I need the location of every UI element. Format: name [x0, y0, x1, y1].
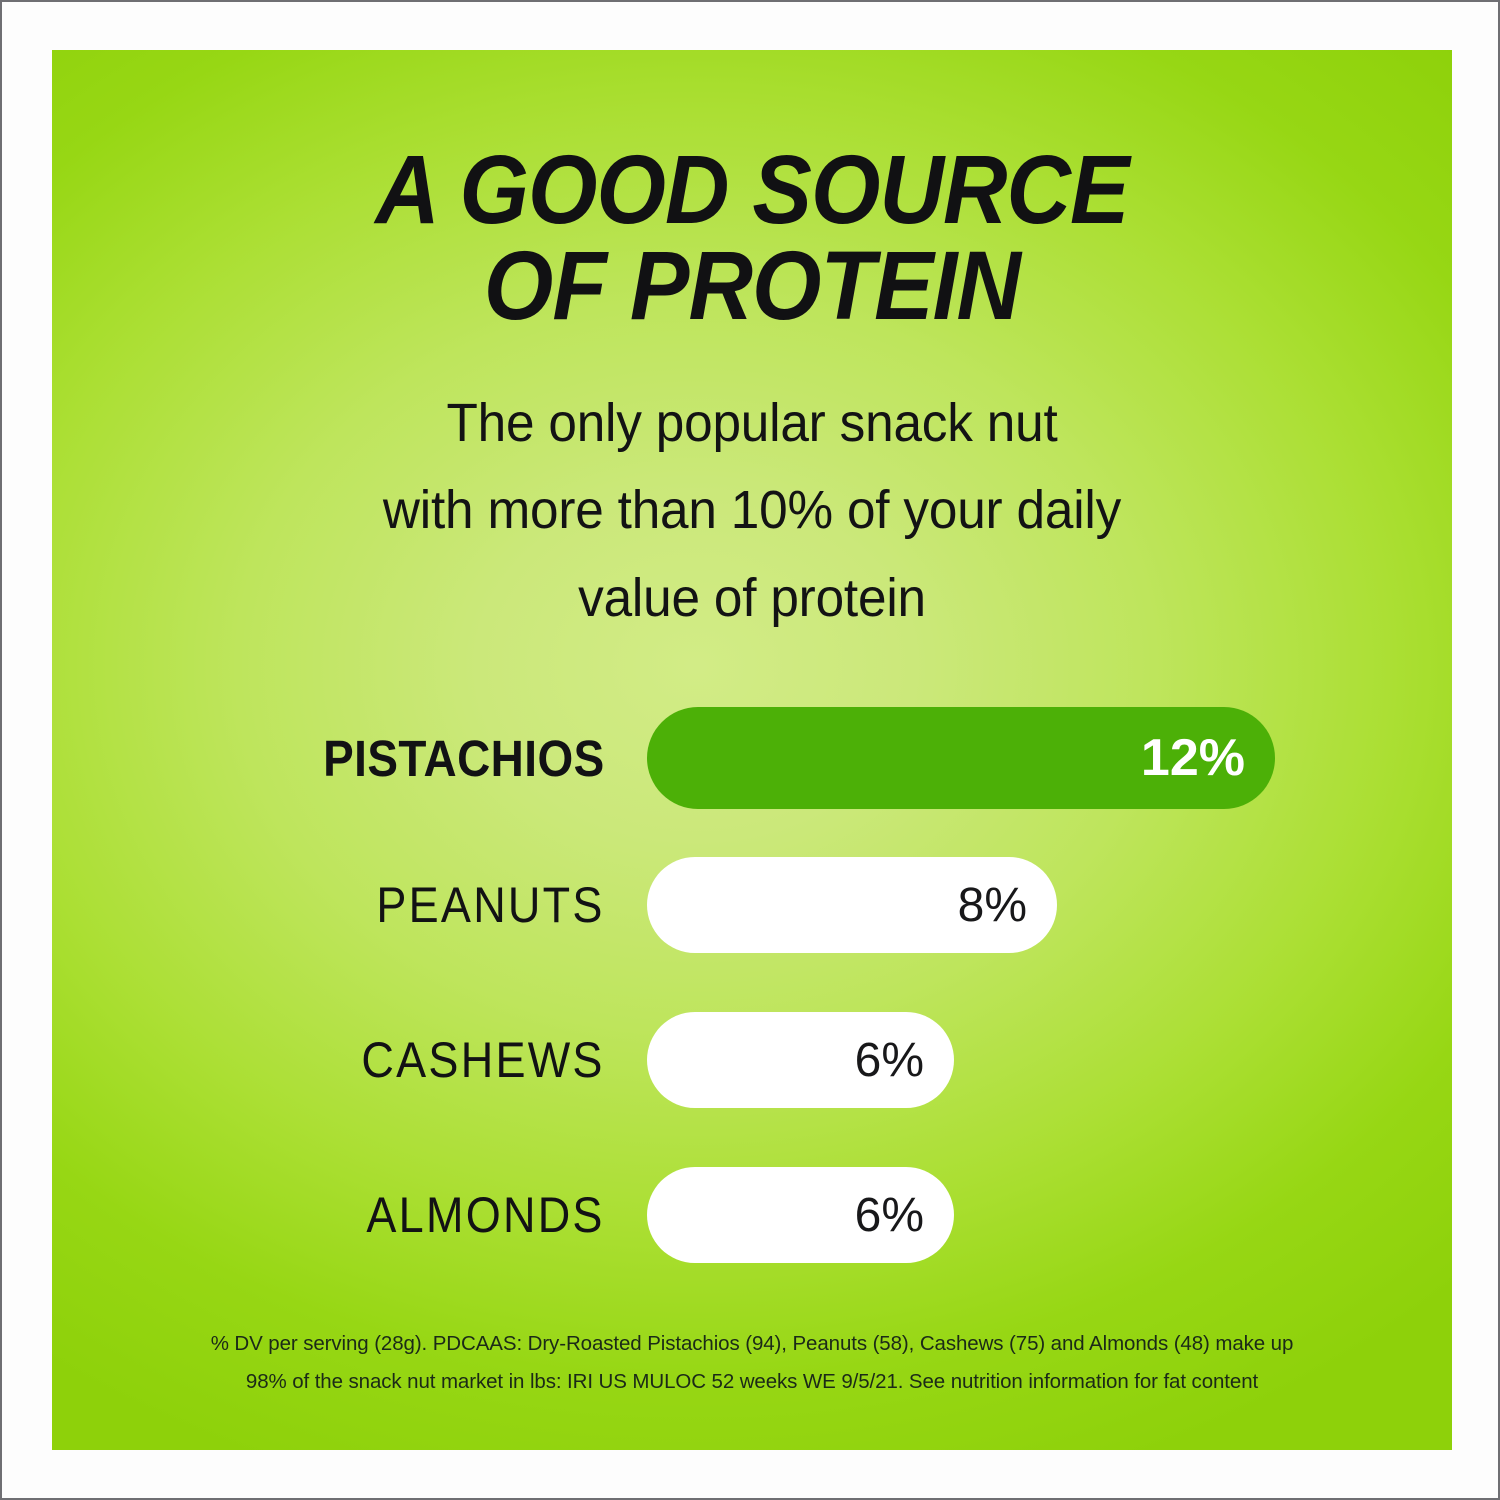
bar-label-almonds: ALMONDS: [112, 1186, 648, 1244]
bar-value-cashews: 6%: [855, 1033, 924, 1088]
bar-track-cashews: 6%: [647, 1012, 954, 1108]
subheadline-line-2: with more than 10% of your daily: [87, 467, 1417, 554]
footnote-line-1: % DV per serving (28g). PDCAAS: Dry-Roas…: [52, 1325, 1452, 1363]
headline-line-1: A GOOD SOURCE: [108, 142, 1396, 238]
subheadline-line-1: The only popular snack nut: [87, 380, 1417, 467]
footnote: % DV per serving (28g). PDCAAS: Dry-Roas…: [52, 1325, 1452, 1401]
bar-track-peanuts: 8%: [647, 857, 1057, 953]
bar-value-peanuts: 8%: [958, 878, 1027, 933]
bar-label-pistachios: PISTACHIOS: [112, 729, 648, 788]
bar-value-almonds: 6%: [855, 1188, 924, 1243]
page-title: A GOOD SOURCE OF PROTEIN: [108, 142, 1396, 334]
infographic-panel: A GOOD SOURCE OF PROTEIN The only popula…: [52, 50, 1452, 1450]
footnote-line-2: 98% of the snack nut market in lbs: IRI …: [52, 1363, 1452, 1401]
bar-row-pistachios: PISTACHIOS 12%: [52, 707, 1452, 809]
page-frame: A GOOD SOURCE OF PROTEIN The only popula…: [0, 0, 1500, 1500]
bar-label-peanuts: PEANUTS: [112, 876, 648, 934]
bar-row-almonds: ALMONDS 6%: [52, 1167, 1452, 1263]
bar-label-cashews: CASHEWS: [112, 1031, 648, 1089]
bar-track-almonds: 6%: [647, 1167, 954, 1263]
page-subtitle: The only popular snack nut with more tha…: [87, 380, 1417, 642]
subheadline-line-3: value of protein: [87, 555, 1417, 642]
bar-row-peanuts: PEANUTS 8%: [52, 857, 1452, 953]
bar-track-pistachios: 12%: [647, 707, 1275, 809]
protein-bar-chart: PISTACHIOS 12% PEANUTS 8% CASHEWS 6% ALM…: [52, 690, 1452, 1270]
bar-value-pistachios: 12%: [1141, 728, 1245, 788]
bar-row-cashews: CASHEWS 6%: [52, 1012, 1452, 1108]
headline-line-2: OF PROTEIN: [108, 238, 1396, 334]
